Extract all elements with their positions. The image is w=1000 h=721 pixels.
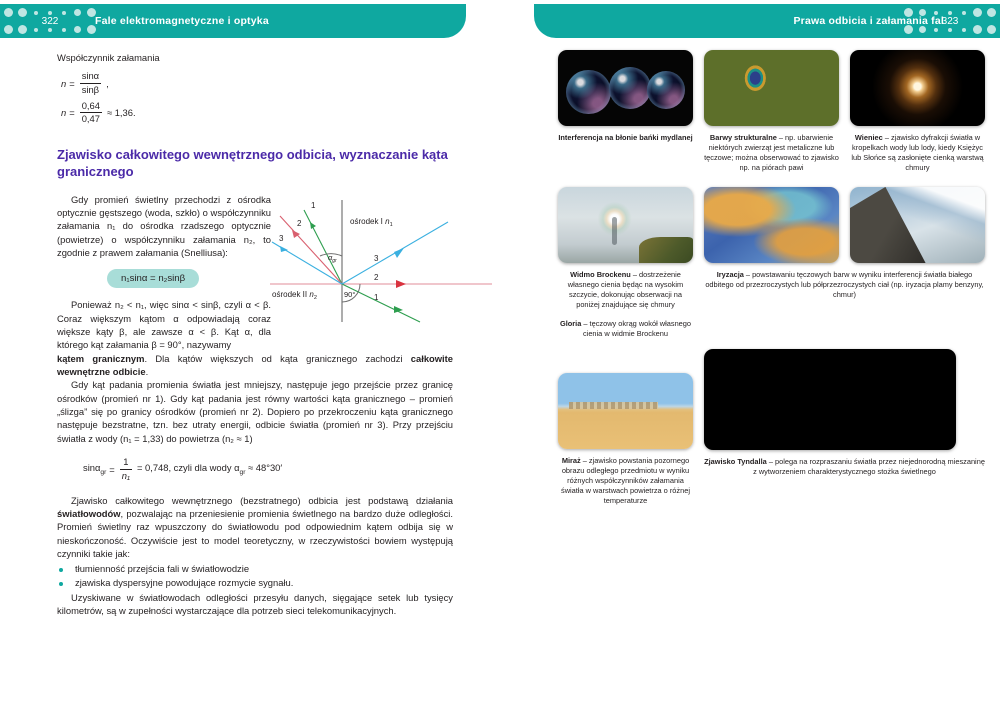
list-item: zjawiska dyspersyjne powodujące rozmycie… [57,576,453,590]
label-ray-2-incident: 2 [297,219,302,228]
caption-gloria-bold: Gloria [560,319,581,328]
phenomenon-card-bubbles: Interferencja na błonie bańki mydlanej [558,50,693,173]
peacock-feathers-photo [704,50,839,126]
phenomena-row-2-captions: Widmo Brockenu – dostrzeżenie własnego c… [558,270,986,339]
para4-bold-fiber: światłowodów [57,508,121,519]
label-medium-two: ośrodek II n2 [272,290,317,301]
paragraph-snell-intro: Gdy promień świetlny przechodzi z ośrodk… [57,193,271,260]
caption-mirage-rest: – zjawisko powstania pozornego obrazu od… [561,456,690,505]
right-header-dot-pattern [902,4,998,38]
phenomenon-card-mountain [850,187,985,263]
phenomena-row-3: Miraż – zjawisko powstania pozornego obr… [558,349,986,506]
caption-gloria-rest: – tęczowy okrąg wokół własnego cienia w … [581,319,691,338]
arrow-reflected-3 [394,248,404,258]
formula-pill-snell-law: n₁sinα = n₂sinβ [107,269,199,288]
phenomena-row-2 [558,187,986,263]
eq1-fraction: sinα sinβ [80,71,101,96]
refractive-index-label: Współczynnik załamania [57,52,453,63]
snowy-mountain-photo [850,187,985,263]
diagram-svg: 1 2 3 3 2 1 ośrodek I n1 ośrodek II n2 α… [270,196,492,324]
caption-bubbles-bold: Interferencja na błonie bańki mydlanej [558,133,692,142]
para2-period: . [146,366,149,377]
brocken-spectre-photo [558,187,693,263]
caption-peacock-bold: Barwy strukturalne [710,133,777,142]
label-medium-one: ośrodek I n1 [350,217,393,228]
eq3-tail: = 0,748, czyli dla wody αgr ≈ 48°30′ [137,462,282,476]
caption-iridescence-rest: – powstawaniu tęczowych barw w wyniku in… [705,270,983,299]
para2-continuation: . Dla kątów większych od kąta graniczneg… [144,353,410,364]
equation-refractive-index-symbolic: n = sinα sinβ , [61,71,453,96]
paragraph-critical-angle-b: kątem granicznym. Dla kątów większych od… [57,352,453,379]
eq1-numerator: sinα [80,71,101,84]
paragraph-rays-description: Gdy kąt padania promienia światła jest m… [57,378,453,445]
eq2-denominator: 0,47 [80,113,102,125]
para2-bold-critical-angle: kątem granicznym [57,353,144,364]
eq1-tail: , [106,78,109,89]
label-ray-3-incident: 3 [279,234,284,243]
oil-iridescence-photo [704,187,839,263]
eq3-denominator: n₁ [120,470,132,482]
eq1-equals: = [69,78,74,89]
paragraph-critical-angle-a: Ponieważ n₂ < n₁, więc sinα < sinβ, czyl… [57,298,271,351]
eq3-fraction: 1 n₁ [120,457,132,482]
eq2-equals: = [69,107,74,118]
label-ray-3-reflected: 3 [374,254,379,263]
paragraph-transmission-distances: Uzyskiwane w światłowodach odległości pr… [57,591,453,618]
equation-critical-angle-water: sinαgr = 1 n₁ = 0,748, czyli dla wody αg… [83,457,453,482]
eq3-lhs-subscript: gr [100,469,106,476]
left-page: Fale elektromagnetyczne i optyka 322 Wsp… [0,0,500,721]
caption-mirage-bold: Miraż [562,456,581,465]
caption-brocken-bold: Widmo Brockenu [570,270,631,279]
eq3-lhs: sinαgr [83,462,106,476]
eq2-tail: ≈ 1,36. [107,107,136,118]
eq3-equals: = [109,464,114,475]
caption-bubbles: Interferencja na błonie bańki mydlanej [558,133,693,143]
eq2-lhs: n [61,107,66,118]
caption-gloria: Gloria – tęczowy okrąg wokół własnego ci… [558,319,693,339]
right-page-content: Interferencja na błonie bańki mydlanej B… [558,50,986,506]
phenomena-row-1: Interferencja na błonie bańki mydlanej B… [558,50,986,173]
eq1-denominator: sinβ [80,84,101,96]
brocken-caption-group: Widmo Brockenu – dostrzeżenie własnego c… [558,270,693,339]
phenomenon-card-mirage: Miraż – zjawisko powstania pozornego obr… [558,349,693,506]
arrow-grazing-2 [396,280,406,288]
para2-text: Ponieważ n₂ < n₁, więc sinα < sinβ, czyl… [57,299,271,350]
book-spread: Fale elektromagnetyczne i optyka 322 Wsp… [0,0,1000,721]
phenomenon-card-brocken [558,187,693,263]
left-page-header-title: Fale elektromagnetyczne i optyka [95,15,269,27]
caption-tyndall: Zjawisko Tyndalla – polega na rozpraszan… [704,457,985,477]
fiber-limitations-list: tłumienność przejścia fali w światłowodz… [57,562,453,590]
eq3-tail-text: = 0,748, czyli dla wody α [137,462,240,473]
left-header-dot-pattern [2,4,98,38]
list-item: tłumienność przejścia fali w światłowodz… [57,562,453,576]
caption-mirage: Miraż – zjawisko powstania pozornego obr… [558,456,693,506]
phenomenon-card-peacock: Barwy strukturalne – np. ubarwienie niek… [704,50,839,173]
phenomenon-card-iridescence [704,187,839,263]
label-ray-1-incident: 1 [311,201,316,210]
caption-corona-bold: Wieniec [855,133,883,142]
caption-peacock: Barwy strukturalne – np. ubarwienie niek… [704,133,839,173]
iridescence-caption-group: Iryzacja – powstawaniu tęczowych barw w … [704,270,985,339]
eq2-fraction: 0,64 0,47 [80,101,102,126]
phenomenon-card-corona: Wieniec – zjawisko dyfrakcji światła w k… [850,50,985,173]
paragraph-fiber-optics: Zjawisko całkowitego wewnętrznego (bezst… [57,494,453,561]
caption-iridescence-bold: Iryzacja [717,270,744,279]
eq2-numerator: 0,64 [80,101,102,114]
right-page: Prawa odbicia i załamania fal 323 Interf… [500,0,1000,721]
caption-brocken: Widmo Brockenu – dostrzeżenie własnego c… [558,270,693,310]
para4-part-a: Zjawisko całkowitego wewnętrznego (bezst… [71,495,453,506]
lunar-corona-photo [850,50,985,126]
section-heading-total-internal-reflection: Zjawisko całkowitego wewnętrznego odbici… [57,147,457,180]
caption-corona: Wieniec – zjawisko dyfrakcji światła w k… [850,133,985,173]
tyndall-forest-photo [704,349,956,450]
eq1-lhs: n [61,78,66,89]
caption-iridescence: Iryzacja – powstawaniu tęczowych barw w … [704,270,985,300]
total-internal-reflection-diagram: 1 2 3 3 2 1 ośrodek I n1 ośrodek II n2 α… [270,196,492,324]
eq3-lhs-text: sinα [83,462,100,473]
label-ray-2-grazing: 2 [374,273,379,282]
left-page-content: Współczynnik załamania n = sinα sinβ , n… [57,52,453,617]
soap-bubbles-photo [558,50,693,126]
eq3-tail-end: ≈ 48°30′ [245,462,282,473]
eq3-numerator: 1 [120,457,132,470]
caption-tyndall-rest: – polega na rozpraszaniu światła przez n… [753,457,985,476]
label-right-angle: 90° [344,290,355,299]
phenomenon-card-tyndall: Zjawisko Tyndalla – polega na rozpraszan… [704,349,985,477]
equation-refractive-index-numeric: n = 0,64 0,47 ≈ 1,36. [61,101,453,126]
caption-tyndall-bold: Zjawisko Tyndalla [704,457,767,466]
label-ray-1-refracted: 1 [374,293,379,302]
desert-mirage-photo [558,373,693,449]
label-critical-angle: αgr [328,253,337,264]
